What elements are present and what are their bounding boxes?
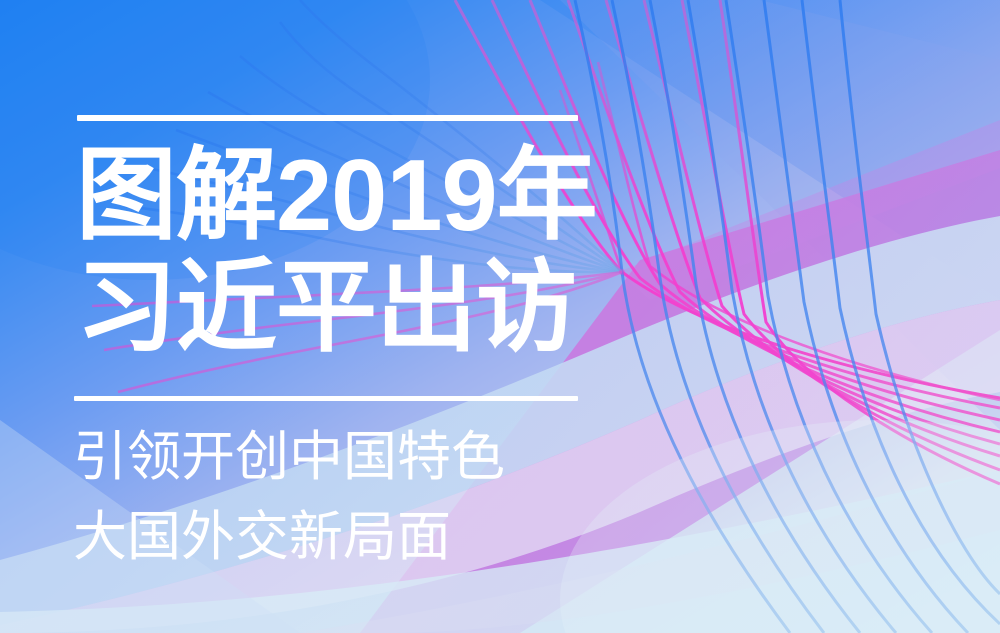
poster-canvas: 图解2019年 习近平出访 引领开创中国特色 大国外交新局面: [0, 0, 1000, 633]
page-subtitle-line-2: 大国外交新局面: [73, 510, 451, 564]
page-subtitle-line-1: 引领开创中国特色: [73, 430, 505, 484]
rule-above-subtitle: [74, 396, 578, 401]
rule-above-title: [77, 115, 578, 121]
page-title-line-2: 习近平出访: [76, 258, 576, 359]
text-content: 图解2019年 习近平出访 引领开创中国特色 大国外交新局面: [0, 0, 1000, 633]
page-title-line-1: 图解2019年: [76, 146, 597, 247]
